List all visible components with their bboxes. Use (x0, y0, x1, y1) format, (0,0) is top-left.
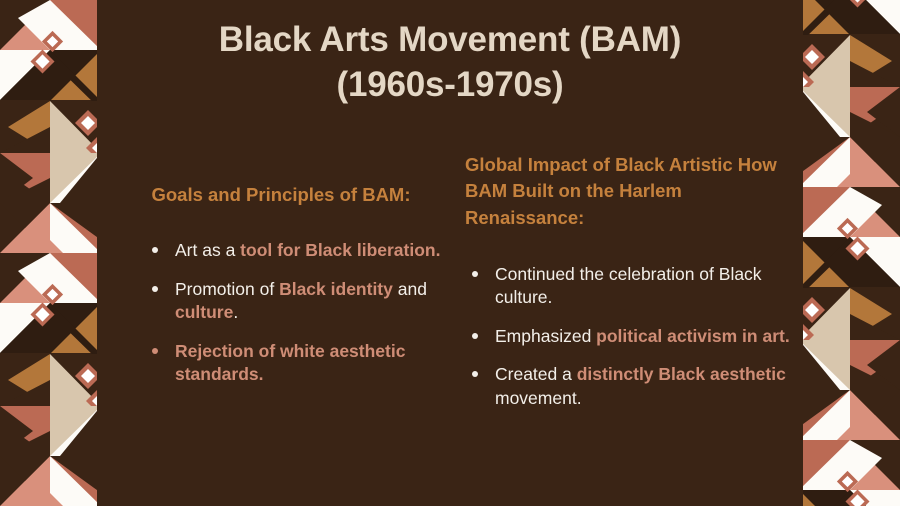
geometric-pattern-border-right (799, 0, 900, 506)
bullet-item: Promotion of Black identity and culture. (149, 278, 447, 325)
bullet-highlight-text: tool for Black liberation. (240, 240, 440, 260)
bullet-highlight-text: Black identity (279, 279, 393, 299)
bullet-text: Promotion of (175, 279, 279, 299)
title-line-1: Black Arts Movement (BAM) (101, 18, 799, 63)
pattern-svg-right (799, 0, 900, 506)
slide-canvas: Black Arts Movement (BAM) (1960s-1970s) … (0, 0, 900, 506)
bullet-item: Rejection of white aesthetic standards. (149, 340, 447, 387)
bullet-text: and (393, 279, 427, 299)
bullet-text: Continued the celebration of Black cultu… (495, 264, 762, 307)
left-column: Goals and Principles of BAM: Art as a to… (101, 148, 453, 493)
bullet-highlight-text: distinctly Black aesthetic (577, 364, 786, 384)
bullet-text: Art as a (175, 240, 240, 260)
bullet-text: Emphasized (495, 326, 596, 346)
right-column: Global Impact of Black Artistic How BAM … (453, 148, 799, 493)
bullet-item: Emphasized political activism in art. (469, 325, 791, 348)
left-column-bullet-list: Art as a tool for Black liberation.Promo… (115, 239, 447, 386)
left-column-heading: Goals and Principles of BAM: (115, 148, 447, 208)
pattern-svg-left (0, 0, 101, 506)
bullet-highlight-text: culture (175, 302, 233, 322)
title-line-2: (1960s-1970s) (101, 63, 799, 108)
bullet-item: Continued the celebration of Black cultu… (469, 263, 791, 310)
right-column-bullet-list: Continued the celebration of Black cultu… (465, 263, 791, 410)
slide-title: Black Arts Movement (BAM) (1960s-1970s) (101, 18, 799, 108)
bullet-text: . (233, 302, 238, 322)
right-column-heading: Global Impact of Black Artistic How BAM … (465, 148, 791, 231)
geometric-pattern-border-left (0, 0, 101, 506)
bullet-item: Art as a tool for Black liberation. (149, 239, 447, 262)
bullet-item: Created a distinctly Black aesthetic mov… (469, 363, 791, 410)
bullet-highlight-text: political activism in art. (596, 326, 790, 346)
bullet-text: Rejection of white aesthetic standards. (175, 341, 405, 384)
content-columns: Goals and Principles of BAM: Art as a to… (101, 148, 799, 493)
bullet-text: movement. (495, 388, 582, 408)
bullet-text: Created a (495, 364, 577, 384)
